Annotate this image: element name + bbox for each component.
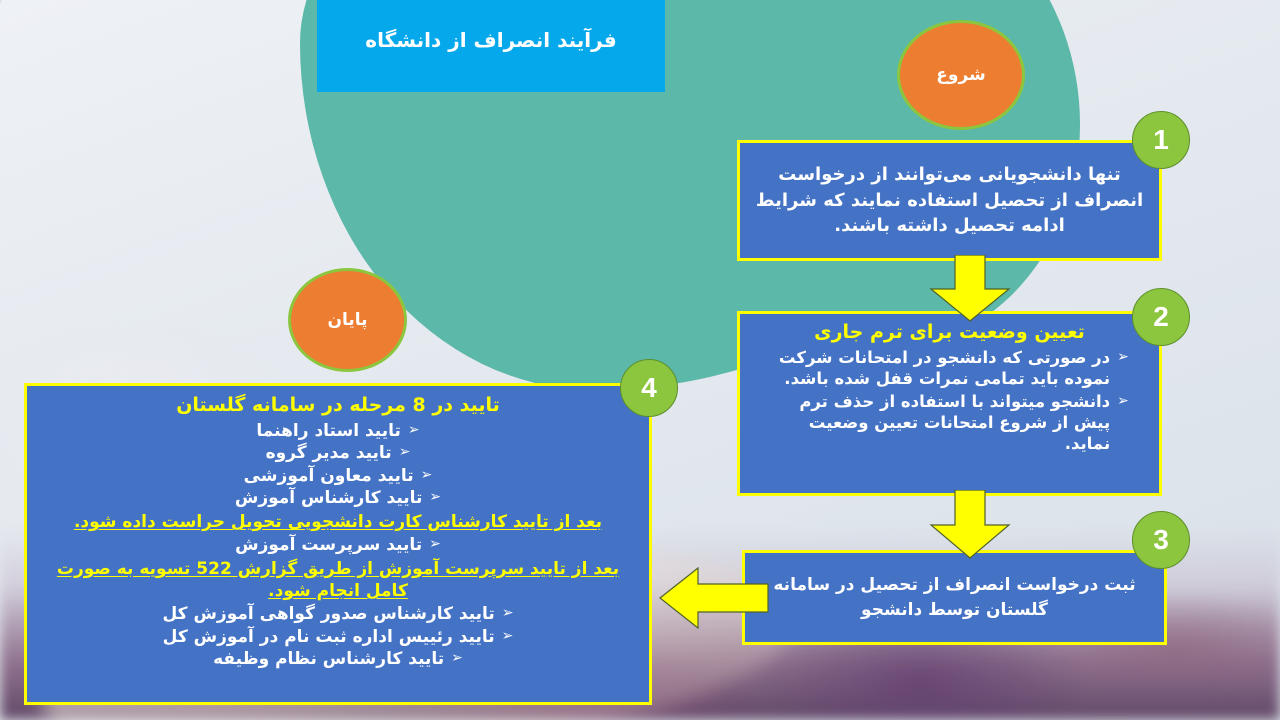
- step-4-bullet-list-upper: ➢ تایید استاد راهنما ➢ تایید مدیر گروه ➢…: [41, 420, 635, 510]
- bullet-arrow-icon: ➢: [429, 487, 441, 507]
- step-4-bullet-text: تایید کارشناس صدور گواهی آموزش کل: [162, 603, 494, 626]
- step-2-box: تعیین وضعیت برای ترم جاری ➢ در صورتی که …: [737, 311, 1162, 496]
- step-3-box: ثبت درخواست انصراف از تحصیل در سامانه گل…: [742, 550, 1167, 645]
- step-4-bullet-item: ➢ تایید کارشناس صدور گواهی آموزش کل: [41, 603, 635, 626]
- step-4-bullet-text: تایید کارشناس آموزش: [235, 487, 423, 510]
- bullet-arrow-icon: ➢: [421, 465, 433, 485]
- step-4-bullet-item: ➢ تایید مدیر گروه: [41, 442, 635, 465]
- start-node-label: شروع: [936, 65, 985, 85]
- step-1-badge-number: 1: [1153, 124, 1169, 156]
- step-2-badge-number: 2: [1153, 301, 1169, 333]
- bullet-arrow-icon: ➢: [502, 626, 514, 646]
- diagram-title-text: فرآیند انصراف از دانشگاه: [365, 28, 616, 52]
- step-4-note-first: بعد از تایید کارشناس کارت دانشجویی تحویل…: [41, 511, 635, 533]
- step-4-bullet-text: تایید استاد راهنما: [256, 420, 400, 443]
- step-3-badge: 3: [1132, 511, 1190, 569]
- diagram-title-box: فرآیند انصراف از دانشگاه: [317, 0, 665, 92]
- bullet-arrow-icon: ➢: [502, 603, 514, 623]
- step-4-bullet-item: ➢ تایید معاون آموزشی: [41, 465, 635, 488]
- step-4-bullet-text: تایید رئییس اداره ثبت نام در آموزش کل: [163, 626, 495, 649]
- step-1-badge: 1: [1132, 111, 1190, 169]
- step-4-bullet-list-middle: ➢ تایید سرپرست آموزش: [41, 534, 635, 557]
- bullet-arrow-icon: ➢: [429, 534, 441, 554]
- step-4-bullet-item: ➢ تایید کارشناس آموزش: [41, 487, 635, 510]
- step-4-bullet-text: تایید معاون آموزشی: [244, 465, 414, 488]
- step-4-bullet-list-lower: ➢ تایید کارشناس صدور گواهی آموزش کل ➢ تا…: [41, 603, 635, 671]
- bullet-arrow-icon: ➢: [1117, 391, 1129, 411]
- step-3-body: ثبت درخواست انصراف از تحصیل در سامانه گل…: [759, 573, 1150, 622]
- step-4-bullet-item: ➢ تایید کارشناس نظام وظیفه: [41, 648, 635, 671]
- step-2-bullet-text: در صورتی که دانشجو در امتحانات شرکت نمود…: [770, 347, 1110, 390]
- end-node-label: پایان: [327, 310, 367, 330]
- step-2-badge: 2: [1132, 288, 1190, 346]
- step-4-heading: تایید در 8 مرحله در سامانه گلستان: [41, 393, 635, 419]
- step-4-bullet-item: ➢ تایید استاد راهنما: [41, 420, 635, 443]
- step-1-body: تنها دانشجویانی می‌توانند از درخواست انص…: [754, 162, 1145, 239]
- step-4-bullet-text: تایید مدیر گروه: [266, 442, 392, 465]
- step-4-badge-number: 4: [641, 372, 657, 404]
- step-2-bullet-list: ➢ در صورتی که دانشجو در امتحانات شرکت نم…: [752, 347, 1147, 455]
- step-2-bullet-item: ➢ دانشجو میتواند با استفاده از حذف ترم پ…: [752, 391, 1147, 455]
- end-node: پایان: [288, 268, 407, 372]
- bullet-arrow-icon: ➢: [451, 648, 463, 668]
- bullet-arrow-icon: ➢: [1117, 347, 1129, 367]
- step-4-bullet-item: ➢ تایید سرپرست آموزش: [41, 534, 635, 557]
- step-2-bullet-item: ➢ در صورتی که دانشجو در امتحانات شرکت نم…: [752, 347, 1147, 390]
- step-4-box: تایید در 8 مرحله در سامانه گلستان ➢ تایی…: [24, 383, 652, 705]
- step-2-heading: تعیین وضعیت برای ترم جاری: [752, 320, 1147, 346]
- step-1-box: تنها دانشجویانی می‌توانند از درخواست انص…: [737, 140, 1162, 261]
- step-4-bullet-item: ➢ تایید رئییس اداره ثبت نام در آموزش کل: [41, 626, 635, 649]
- step-4-bullet-text: تایید کارشناس نظام وظیفه: [213, 648, 444, 671]
- arrow-down-step1-to-step2: [925, 255, 1015, 323]
- step-2-bullet-text: دانشجو میتواند با استفاده از حذف ترم پیش…: [770, 391, 1110, 455]
- arrow-left-step3-to-step4: [658, 562, 770, 634]
- step-4-note-second: بعد از تایید سرپرست آموزش از طریق گزارش …: [41, 558, 635, 602]
- step-4-bullet-text: تایید سرپرست آموزش: [235, 534, 422, 557]
- start-node: شروع: [897, 20, 1025, 130]
- step-3-badge-number: 3: [1153, 524, 1169, 556]
- step-4-badge: 4: [620, 359, 678, 417]
- arrow-down-step2-to-step3: [925, 490, 1015, 560]
- bullet-arrow-icon: ➢: [408, 420, 420, 440]
- bullet-arrow-icon: ➢: [399, 442, 411, 462]
